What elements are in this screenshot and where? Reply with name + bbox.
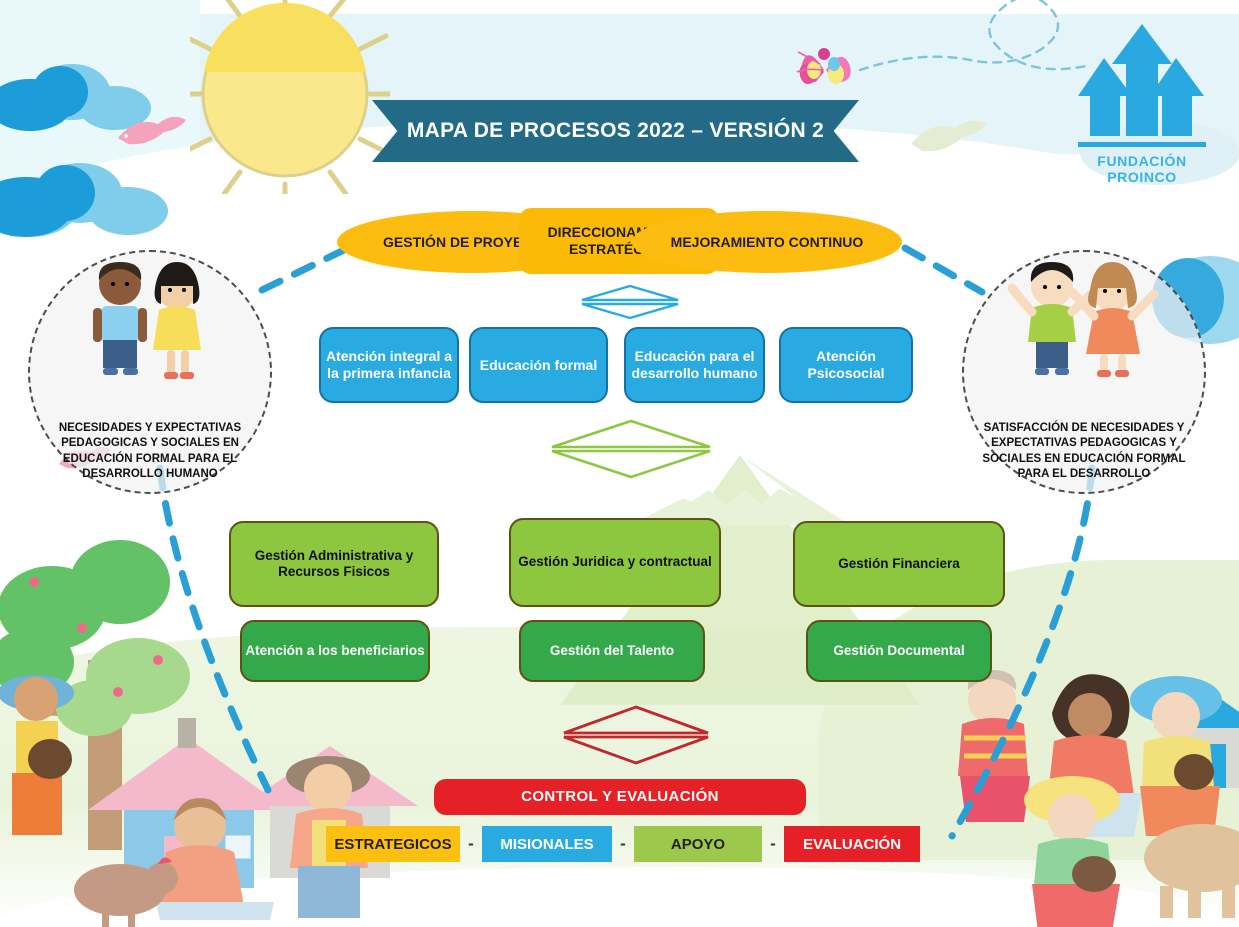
two-children-cheering-icon — [1004, 256, 1164, 393]
apoyo-top-label-1: Gestión Juridica y contractual — [518, 554, 712, 570]
misional-process-educacion-desarrollo-humano[interactable]: Educación para el desarrollo humano — [624, 327, 765, 403]
apoyo-process-atencion-beneficiarios[interactable]: Atención a los beneficiarios — [240, 620, 430, 682]
evaluation-process-control-y-evaluacion[interactable]: CONTROL Y EVALUACIÓN — [434, 779, 806, 815]
input-requirements-circle: NECESIDADES Y EXPECTATIVAS PEDAGOGICAS Y… — [28, 250, 272, 494]
misional-label-0: Atención integral a la primera infancia — [321, 348, 457, 382]
apoyo-double-arrow-icon — [548, 418, 714, 480]
misional-double-arrow-icon — [578, 283, 682, 321]
misional-process-educacion-formal[interactable]: Educación formal — [469, 327, 608, 403]
legend-label-3: EVALUACIÓN — [803, 836, 901, 853]
misional-process-atencion-integral[interactable]: Atención integral a la primera infancia — [319, 327, 459, 403]
strategic-label-2: MEJORAMIENTO CONTINUO — [671, 234, 864, 251]
flow-line-output-top — [905, 248, 982, 292]
legend-item-estrategicos[interactable]: ESTRATEGICOS — [326, 826, 460, 862]
apoyo-top-label-2: Gestión Financiera — [838, 556, 960, 572]
flow-line-input-top — [262, 248, 348, 290]
legend-separator-1: - — [612, 834, 634, 854]
apoyo-process-gestion-juridica[interactable]: Gestión Juridica y contractual — [509, 518, 721, 607]
output-satisfaction-text: SATISFACCIÓN DE NECESIDADES Y EXPECTATIV… — [979, 421, 1189, 482]
legend-label-2: APOYO — [671, 836, 725, 853]
output-satisfaction-circle: SATISFACCIÓN DE NECESIDADES Y EXPECTATIV… — [962, 250, 1206, 494]
evaluation-label: CONTROL Y EVALUACIÓN — [521, 788, 719, 806]
legend-label-1: MISIONALES — [500, 836, 593, 853]
legend-item-apoyo[interactable]: APOYO — [634, 826, 762, 862]
legend-label-0: ESTRATEGICOS — [334, 836, 451, 853]
apoyo-process-gestion-administrativa[interactable]: Gestión Administrativa y Recursos Fisico… — [229, 521, 439, 607]
legend-separator-2: - — [762, 834, 784, 854]
apoyo-bottom-label-1: Gestión del Talento — [550, 643, 674, 659]
misional-label-1: Educación formal — [480, 357, 597, 374]
two-children-icon — [75, 258, 225, 393]
legend-item-evaluacion[interactable]: EVALUACIÓN — [784, 826, 920, 862]
apoyo-process-gestion-talento[interactable]: Gestión del Talento — [519, 620, 705, 682]
apoyo-process-gestion-documental[interactable]: Gestión Documental — [806, 620, 992, 682]
evaluation-double-arrow-icon — [560, 704, 712, 766]
legend-separator-0: - — [460, 834, 482, 854]
misional-label-3: Atención Psicosocial — [781, 348, 911, 382]
misional-process-atencion-psicosocial[interactable]: Atención Psicosocial — [779, 327, 913, 403]
process-map-canvas: MAPA DE PROCESOS 2022 – VERSIÓN 2 FUNDAC… — [0, 0, 1239, 927]
apoyo-bottom-label-2: Gestión Documental — [833, 643, 964, 659]
apoyo-bottom-label-0: Atención a los beneficiarios — [245, 643, 424, 659]
legend: ESTRATEGICOS - MISIONALES - APOYO - EVAL… — [326, 826, 920, 862]
strategic-process-mejoramiento-continuo[interactable]: MEJORAMIENTO CONTINUO — [632, 211, 902, 273]
apoyo-process-gestion-financiera[interactable]: Gestión Financiera — [793, 521, 1005, 607]
apoyo-top-label-0: Gestión Administrativa y Recursos Fisico… — [231, 548, 437, 580]
misional-label-2: Educación para el desarrollo humano — [626, 348, 763, 382]
input-requirements-text: NECESIDADES Y EXPECTATIVAS PEDAGOGICAS Y… — [45, 421, 255, 482]
legend-item-misionales[interactable]: MISIONALES — [482, 826, 612, 862]
